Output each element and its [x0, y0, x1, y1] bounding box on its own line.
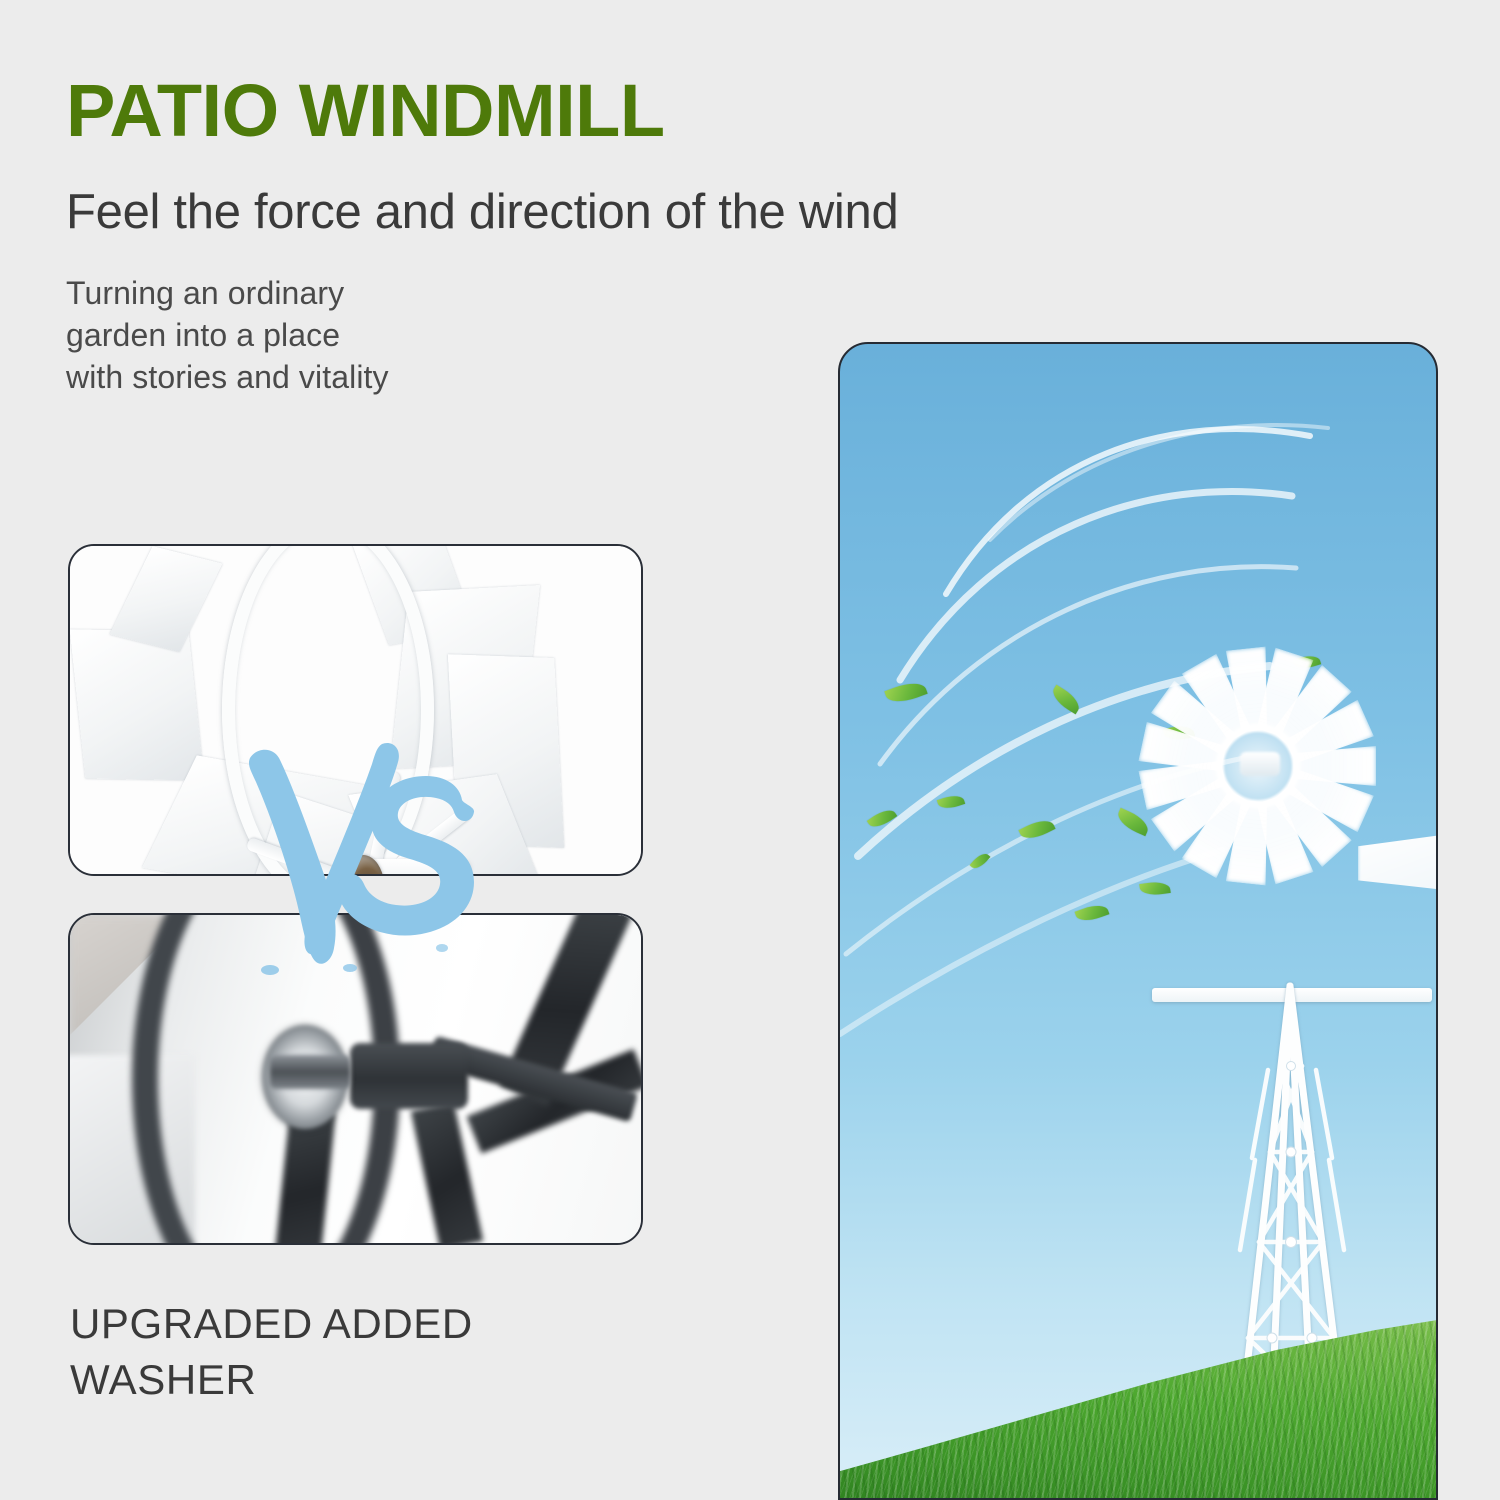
feature-caption-line-2: WASHER — [70, 1352, 473, 1408]
tower-side-brace-1 — [1252, 1070, 1268, 1158]
tower-side-brace-2 — [1316, 1070, 1332, 1158]
tower-side-brace-4 — [1329, 1160, 1344, 1250]
axle-shaft-dark — [270, 1055, 350, 1089]
wheel-hub-core — [1240, 752, 1280, 776]
windmill-wheel — [1108, 616, 1408, 916]
description-line-2: garden into a place — [66, 314, 389, 356]
tower-bolt-4 — [1267, 1333, 1277, 1343]
hub-ring — [222, 544, 434, 876]
blade-left — [70, 629, 205, 780]
feature-caption: UPGRADED ADDED WASHER — [70, 1296, 473, 1408]
blade-upper-left — [110, 546, 223, 652]
description-line-3: with stories and vitality — [66, 356, 389, 398]
dark-windmill-hub-washer-image — [70, 915, 641, 1243]
hub-barrel-dark — [350, 1043, 468, 1109]
tower-bolt-2 — [1286, 1147, 1296, 1157]
wind-line-7 — [990, 425, 1328, 540]
description-text: Turning an ordinary garden into a place … — [66, 272, 389, 399]
hero-image-panel — [838, 342, 1438, 1500]
description-line-1: Turning an ordinary — [66, 272, 389, 314]
windmill-scene — [840, 344, 1436, 1498]
white-windmill-hub-image — [70, 546, 641, 874]
comparison-photo-after — [68, 913, 643, 1245]
tower-bolt-3 — [1286, 1237, 1297, 1248]
tower-side-brace-3 — [1240, 1160, 1255, 1250]
feature-caption-line-1: UPGRADED ADDED — [70, 1296, 473, 1352]
page-subtitle: Feel the force and direction of the wind — [66, 186, 898, 240]
comparison-photo-before — [68, 544, 643, 876]
tower-bolt-5 — [1307, 1333, 1317, 1343]
page-title: PATIO WINDMILL — [66, 74, 665, 148]
tower-bolt-1 — [1287, 1062, 1296, 1071]
